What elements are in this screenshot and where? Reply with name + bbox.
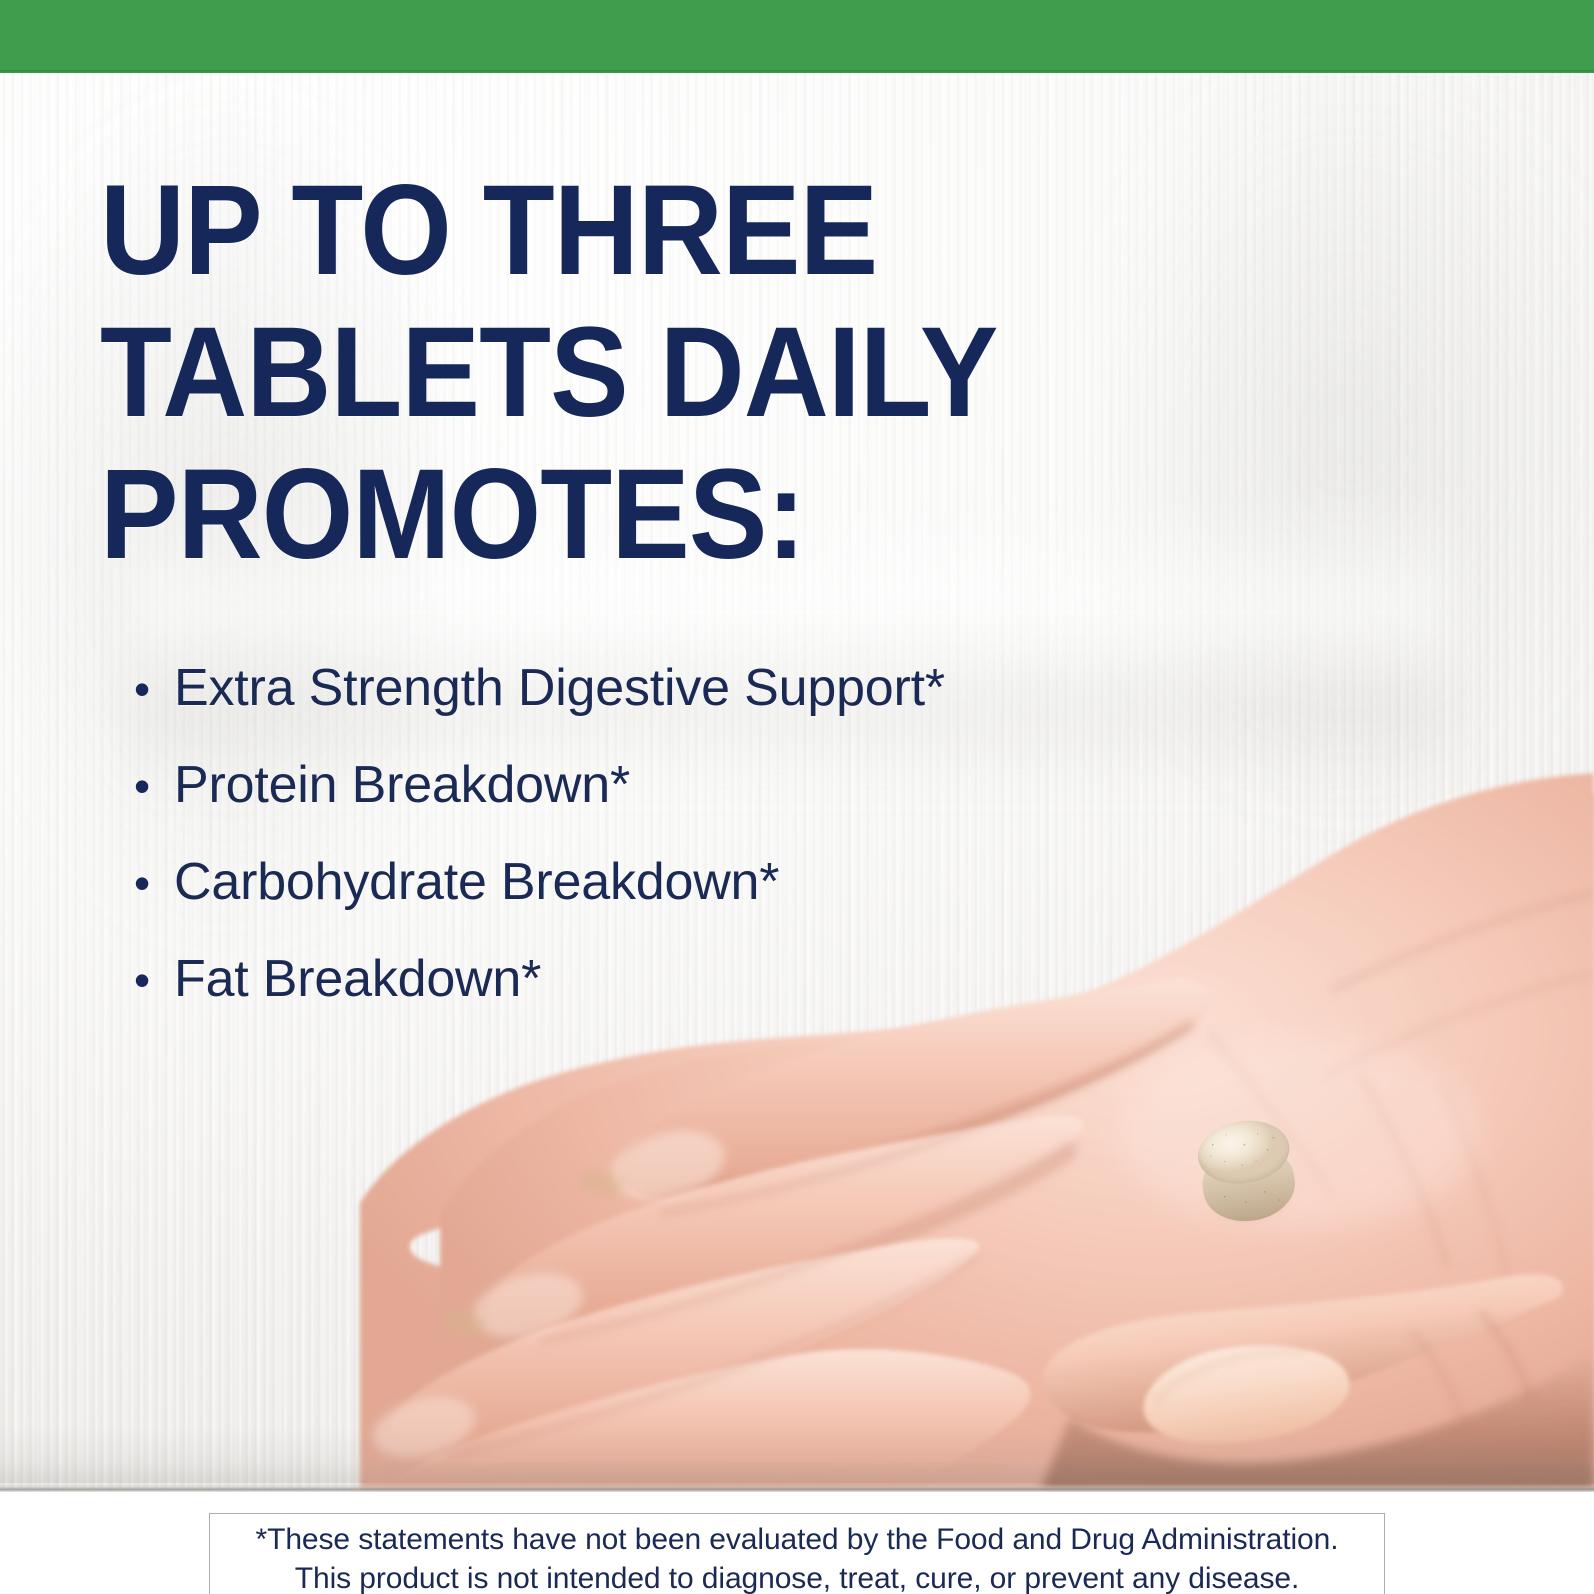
list-item: • Fat Breakdown*: [126, 953, 1226, 1050]
disclaimer-line-2: This product is not intended to diagnose…: [210, 1559, 1384, 1594]
fda-disclaimer: *These statements have not been evaluate…: [209, 1513, 1385, 1594]
benefit-label: Fat Breakdown*: [174, 953, 541, 1005]
list-item: • Extra Strength Digestive Support*: [126, 662, 1226, 759]
green-accent-bar: [0, 0, 1594, 73]
benefit-label: Protein Breakdown*: [174, 759, 630, 811]
headline-line-1: UP TO THREE: [100, 160, 1066, 302]
photo-bottom-edge: [0, 1483, 1594, 1492]
photo-bottom-shadow: [0, 1427, 1594, 1483]
supplement-tablet: [1184, 1105, 1309, 1240]
bullet-dot-icon: •: [126, 666, 174, 712]
bullet-dot-icon: •: [126, 763, 174, 809]
product-benefits-ad: UP TO THREE TABLETS DAILY PROMOTES: • Ex…: [0, 0, 1594, 1594]
disclaimer-line-1: *These statements have not been evaluate…: [210, 1520, 1384, 1559]
list-item: • Carbohydrate Breakdown*: [126, 856, 1226, 953]
benefits-list: • Extra Strength Digestive Support* • Pr…: [126, 662, 1226, 1050]
bullet-dot-icon: •: [126, 860, 174, 906]
benefit-label: Carbohydrate Breakdown*: [174, 856, 779, 908]
list-item: • Protein Breakdown*: [126, 759, 1226, 856]
bullet-dot-icon: •: [126, 957, 174, 1003]
headline-line-2: TABLETS DAILY: [100, 302, 1066, 444]
page-title: UP TO THREE TABLETS DAILY PROMOTES:: [100, 160, 1150, 586]
headline-line-3: PROMOTES:: [100, 444, 1066, 586]
benefit-label: Extra Strength Digestive Support*: [174, 662, 945, 714]
